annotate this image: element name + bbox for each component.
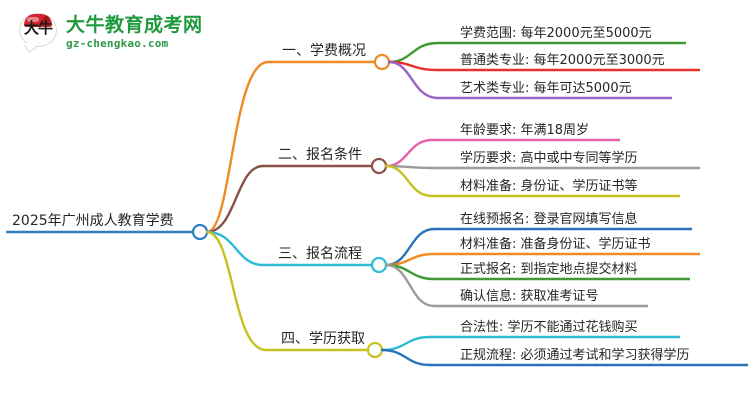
branch-label-1[interactable]: 一、学费概况 <box>282 44 366 58</box>
leaf-label-3-3[interactable]: 正式报名: 到指定地点提交材料 <box>460 263 638 276</box>
branch-3-node-circle[interactable] <box>372 258 386 272</box>
leaf-label-1-1[interactable]: 学费范围: 每年2000元至5000元 <box>460 27 652 40</box>
branch-label-2[interactable]: 二、报名条件 <box>278 148 362 162</box>
root-node-label[interactable]: 2025年广州成人教育学费 <box>12 214 174 228</box>
connector-branch-2-leaf-3 <box>386 166 432 196</box>
leaf-label-1-3[interactable]: 艺术类专业: 每年可达5000元 <box>460 82 632 95</box>
leaf-label-1-2[interactable]: 普通类专业: 每年2000元至3000元 <box>460 54 665 67</box>
leaf-label-4-2[interactable]: 正规流程: 必须通过考试和学习获得学历 <box>460 349 690 362</box>
root-node-circle[interactable] <box>193 225 207 239</box>
leaf-label-2-3[interactable]: 材料准备: 身份证、学历证书等 <box>460 180 638 193</box>
connector-branch-4-leaf-2 <box>382 350 430 365</box>
leaf-label-3-4[interactable]: 确认信息: 获取准考证号 <box>460 290 599 303</box>
branch-1-node-circle[interactable] <box>375 55 389 69</box>
branch-4-node-circle[interactable] <box>368 343 382 357</box>
branch-label-4[interactable]: 四、学历获取 <box>281 332 365 346</box>
branch-label-3[interactable]: 三、报名流程 <box>278 247 362 261</box>
connector-branch-4-leaf-1 <box>382 337 430 350</box>
branch-2-node-circle[interactable] <box>372 159 386 173</box>
connector-branch-1-leaf-1 <box>389 43 438 62</box>
leaf-label-3-1[interactable]: 在线预报名: 登录官网填写信息 <box>460 213 638 226</box>
leaf-label-2-1[interactable]: 年龄要求: 年满18周岁 <box>460 124 589 137</box>
connector-branch-2-leaf-1 <box>386 140 432 166</box>
leaf-label-4-1[interactable]: 合法性: 学历不能通过花钱购买 <box>460 321 638 334</box>
leaf-label-2-2[interactable]: 学历要求: 高中或中专同等学历 <box>460 152 638 165</box>
connector-root-branch-1 <box>207 62 268 232</box>
mindmap-canvas: 大牛 大牛教育成考网 gz-chengkao.com <box>0 0 750 410</box>
leaf-label-3-2[interactable]: 材料准备: 准备身份证、学历证书 <box>460 238 651 251</box>
